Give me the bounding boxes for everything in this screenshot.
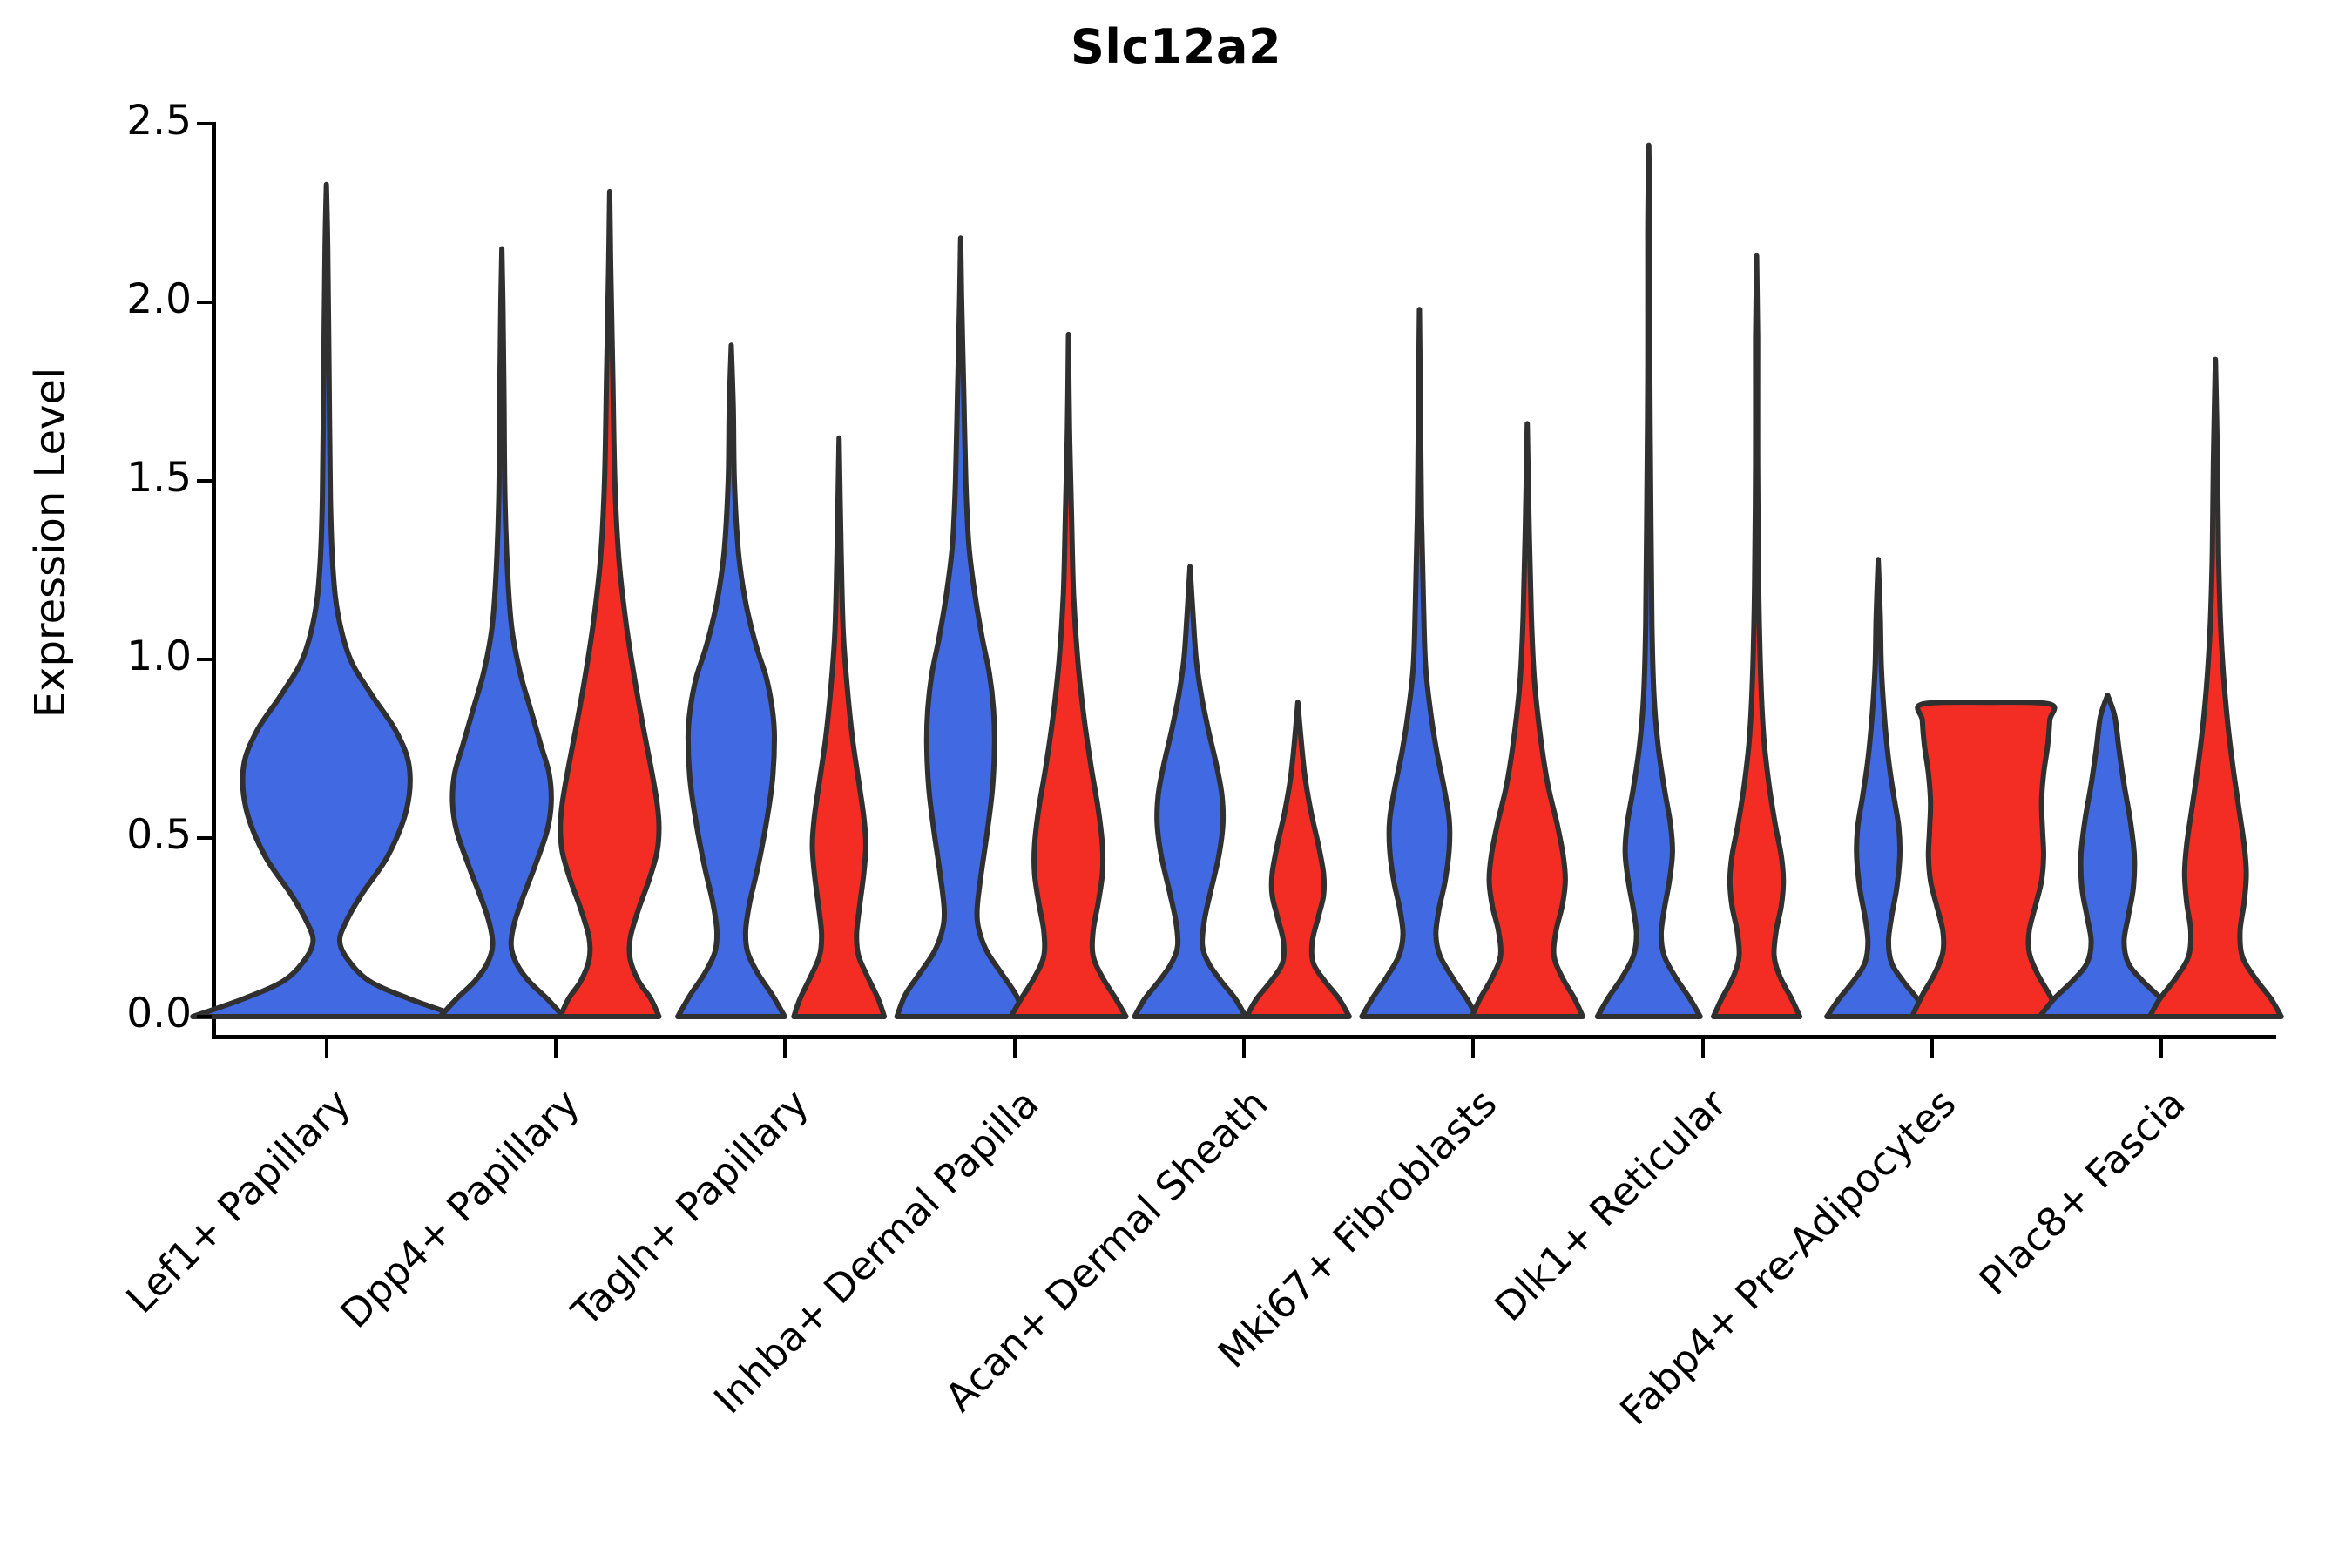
y-tick-label: 1.0 (78, 632, 192, 680)
violin-shape (794, 438, 884, 1017)
x-tick-mark (1013, 1039, 1017, 1058)
x-tick-mark (325, 1039, 328, 1058)
y-axis-label: Expression Level (26, 238, 75, 848)
x-tick-mark (783, 1039, 787, 1058)
y-tick-label: 2.0 (78, 275, 192, 323)
violin-shape (2040, 695, 2176, 1017)
violin-shape (1010, 335, 1125, 1017)
violin-shape (193, 185, 460, 1017)
x-tick-mark (1930, 1039, 1934, 1058)
violin-shape (897, 238, 1024, 1017)
x-tick-label[interactable]: Tagln+ Papillary (416, 1080, 818, 1483)
violin-shape (560, 192, 659, 1017)
x-tick-label[interactable]: Acan+ Dermal Sheath (875, 1080, 1277, 1483)
violin-shape (1912, 702, 2060, 1017)
x-tick-mark (1471, 1039, 1475, 1058)
violin-shape (1134, 566, 1245, 1017)
y-axis-spine (212, 122, 216, 1037)
y-tick-mark (197, 1015, 212, 1018)
y-tick-label: 0.5 (78, 811, 192, 859)
x-tick-label[interactable]: Plac8+ Fascia (1792, 1080, 2194, 1483)
x-tick-mark (1701, 1039, 1705, 1058)
x-tick-mark (2159, 1039, 2163, 1058)
violin-shape (1598, 145, 1700, 1017)
y-tick-label: 2.5 (78, 97, 192, 145)
violin-shape (440, 249, 564, 1017)
x-tick-label[interactable]: Fabp4+ Pre-Adipocytes (1563, 1080, 1965, 1483)
x-tick-label[interactable]: Mki67+ Fibroblasts (1104, 1080, 1506, 1483)
violin-shape (1713, 256, 1800, 1017)
x-tick-label[interactable]: Dpp4+ Papillary (186, 1080, 589, 1483)
y-tick-mark (197, 836, 212, 840)
y-tick-label: 1.5 (78, 454, 192, 502)
y-tick-mark (197, 122, 212, 125)
violin-shape (2150, 360, 2281, 1017)
y-tick-label: 0.0 (78, 990, 192, 1037)
y-tick-mark (197, 658, 212, 661)
x-tick-mark (554, 1039, 558, 1058)
x-tick-label[interactable]: Inhba+ Dermal Papilla (645, 1080, 1047, 1483)
violin-plot-figure: Slc12a2 Expression Level 0.00.51.01.52.0… (0, 0, 2352, 1568)
violin-shape (1472, 423, 1583, 1017)
violin-shape (1827, 559, 1930, 1017)
violin-shape (1247, 702, 1349, 1017)
y-tick-mark (197, 479, 212, 483)
x-tick-mark (1242, 1039, 1246, 1058)
violin-shape (678, 345, 785, 1017)
page-title: Slc12a2 (0, 19, 2352, 74)
y-tick-mark (197, 301, 212, 304)
x-tick-label[interactable]: Dlk1+ Reticular (1333, 1080, 1735, 1483)
violin-shape (1362, 309, 1477, 1017)
